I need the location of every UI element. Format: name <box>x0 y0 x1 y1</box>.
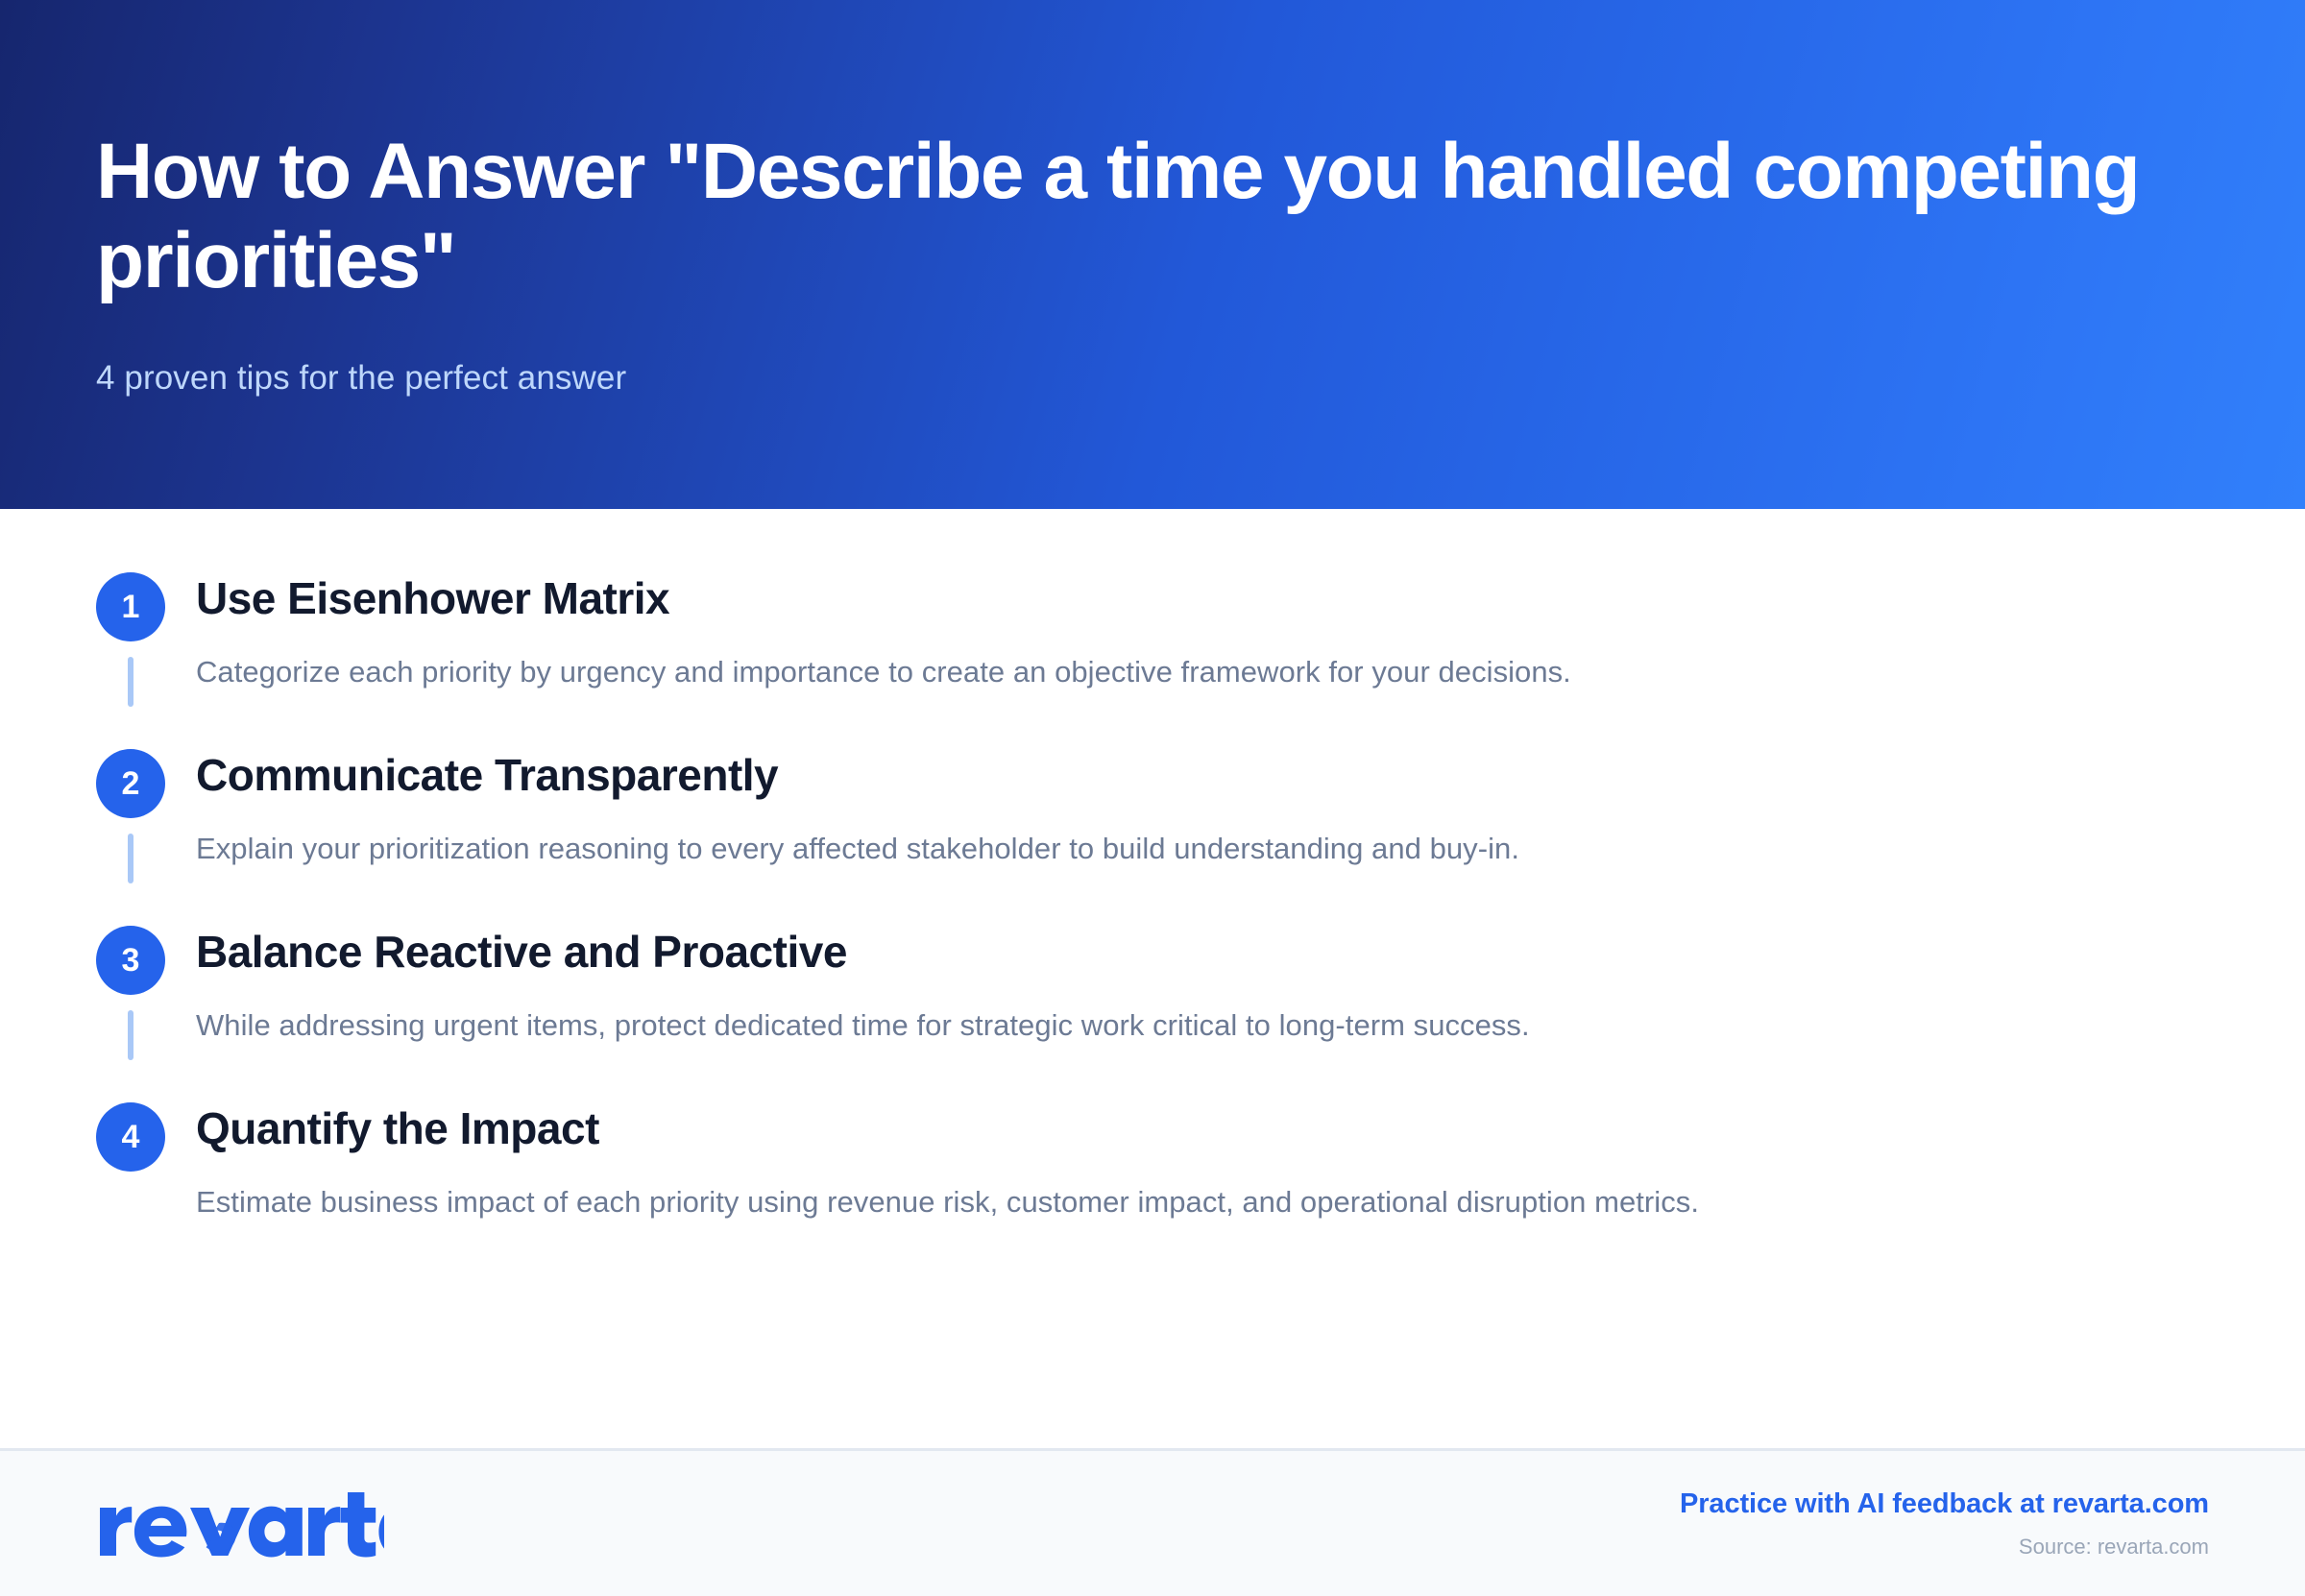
timeline-connector-2 <box>128 834 133 883</box>
tip-description-3: While addressing urgent items, protect d… <box>196 1005 2209 1046</box>
tip-item-1: 1 Use Eisenhower Matrix Categorize each … <box>96 572 2209 749</box>
tip-number-badge-2: 2 <box>96 749 165 818</box>
tip-heading-3: Balance Reactive and Proactive <box>196 928 2209 977</box>
timeline-connector-3 <box>128 1010 133 1060</box>
footer-cta-link[interactable]: Practice with AI feedback at revarta.com <box>1680 1487 2209 1521</box>
tip-item-2: 2 Communicate Transparently Explain your… <box>96 749 2209 926</box>
timeline-connector-1 <box>128 657 133 707</box>
footer-source-text: Source: revarta.com <box>2019 1535 2209 1560</box>
tip-number-badge-4: 4 <box>96 1102 165 1172</box>
tip-description-2: Explain your prioritization reasoning to… <box>196 829 2209 869</box>
tip-body-2: Communicate Transparently Explain your p… <box>165 749 2209 868</box>
page-title: How to Answer "Describe a time you handl… <box>96 127 2209 306</box>
tip-body-3: Balance Reactive and Proactive While add… <box>165 926 2209 1045</box>
tips-list: 1 Use Eisenhower Matrix Categorize each … <box>96 572 2209 1221</box>
tip-body-1: Use Eisenhower Matrix Categorize each pr… <box>165 572 2209 691</box>
revarta-wordmark-icon <box>96 1488 384 1560</box>
revarta-logo[interactable] <box>96 1451 384 1596</box>
tip-badge-column-2: 2 <box>96 749 165 883</box>
tip-heading-4: Quantify the Impact <box>196 1104 2209 1153</box>
tip-badge-column-3: 3 <box>96 926 165 1060</box>
tip-badge-column-4: 4 <box>96 1102 165 1172</box>
tips-section: 1 Use Eisenhower Matrix Categorize each … <box>0 509 2305 1448</box>
tip-number-badge-3: 3 <box>96 926 165 995</box>
tip-item-4: 4 Quantify the Impact Estimate business … <box>96 1102 2209 1221</box>
tip-heading-1: Use Eisenhower Matrix <box>196 574 2209 623</box>
poster-header: How to Answer "Describe a time you handl… <box>0 0 2305 509</box>
tip-description-1: Categorize each priority by urgency and … <box>196 652 2209 692</box>
footer-right-block: Practice with AI feedback at revarta.com… <box>1680 1487 2209 1560</box>
tip-number-badge-1: 1 <box>96 572 165 641</box>
infographic-poster: How to Answer "Describe a time you handl… <box>0 0 2305 1596</box>
tip-description-4: Estimate business impact of each priorit… <box>196 1182 2209 1222</box>
poster-footer: Practice with AI feedback at revarta.com… <box>0 1448 2305 1596</box>
tip-heading-2: Communicate Transparently <box>196 751 2209 800</box>
tip-body-4: Quantify the Impact Estimate business im… <box>165 1102 2209 1221</box>
tip-item-3: 3 Balance Reactive and Proactive While a… <box>96 926 2209 1102</box>
page-subtitle: 4 proven tips for the perfect answer <box>96 356 2209 400</box>
tip-badge-column-1: 1 <box>96 572 165 707</box>
